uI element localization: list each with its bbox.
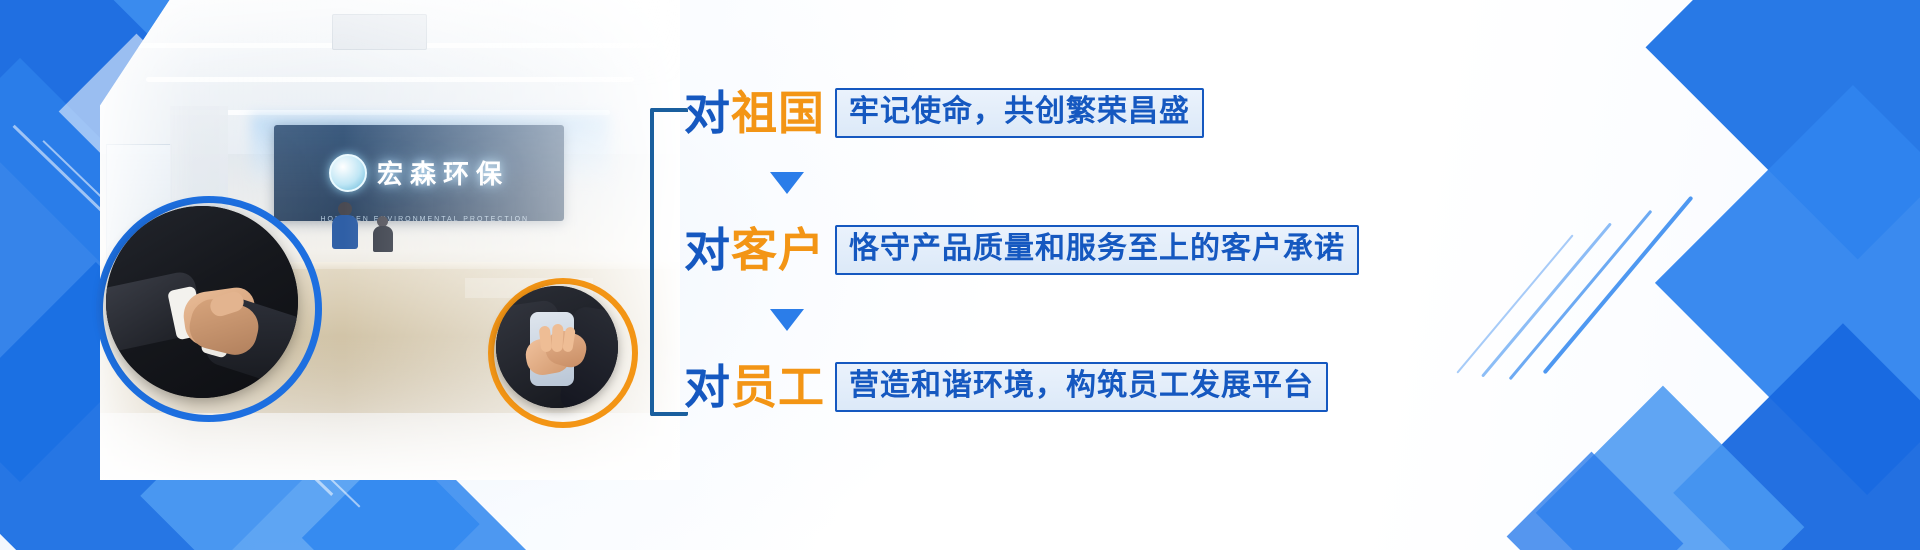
commitment-row-customer: 对客户 恪守产品质量和服务至上的客户承诺 <box>684 225 1359 275</box>
commitment-prefix: 对 <box>684 361 731 413</box>
handshake-photo <box>106 206 298 398</box>
commitments-block: 对祖国 牢记使命，共创繁荣昌盛 对客户 恪守产品质量和服务至上的客户承诺 对员工… <box>650 70 1350 470</box>
commitment-target-country: 对祖国 <box>684 90 825 136</box>
commitment-statement-customer: 恪守产品质量和服务至上的客户承诺 <box>849 234 1345 264</box>
commitment-target-customer: 对客户 <box>684 227 825 273</box>
commitment-subject: 员工 <box>731 361 825 413</box>
commitment-subject: 客户 <box>731 224 825 276</box>
commitment-row-employee: 对员工 营造和谐环境，构筑员工发展平台 <box>684 362 1328 412</box>
commitment-statement-country: 牢记使命，共创繁荣昌盛 <box>849 97 1190 127</box>
commitment-prefix: 对 <box>684 224 731 276</box>
commitment-prefix: 对 <box>684 87 731 139</box>
commitment-target-employee: 对员工 <box>684 364 825 410</box>
teamwork-photo <box>496 286 618 408</box>
down-arrow-icon-2 <box>770 309 804 331</box>
commitment-row-country: 对祖国 牢记使命，共创繁荣昌盛 <box>684 88 1204 138</box>
commitment-statement-box-employee: 营造和谐环境，构筑员工发展平台 <box>835 362 1328 412</box>
commitment-statement-box-country: 牢记使命，共创繁荣昌盛 <box>835 88 1204 138</box>
commitment-statement-box-customer: 恪守产品质量和服务至上的客户承诺 <box>835 225 1359 275</box>
bracket-connector <box>650 108 688 416</box>
commitment-subject: 祖国 <box>731 87 825 139</box>
down-arrow-icon-1 <box>770 172 804 194</box>
company-commitment-banner: 宏森环保 HONGSEN ENVIRONMENTAL PROTECTION <box>0 0 1920 550</box>
finger-2 <box>552 324 564 352</box>
commitment-statement-employee: 营造和谐环境，构筑员工发展平台 <box>849 371 1314 401</box>
